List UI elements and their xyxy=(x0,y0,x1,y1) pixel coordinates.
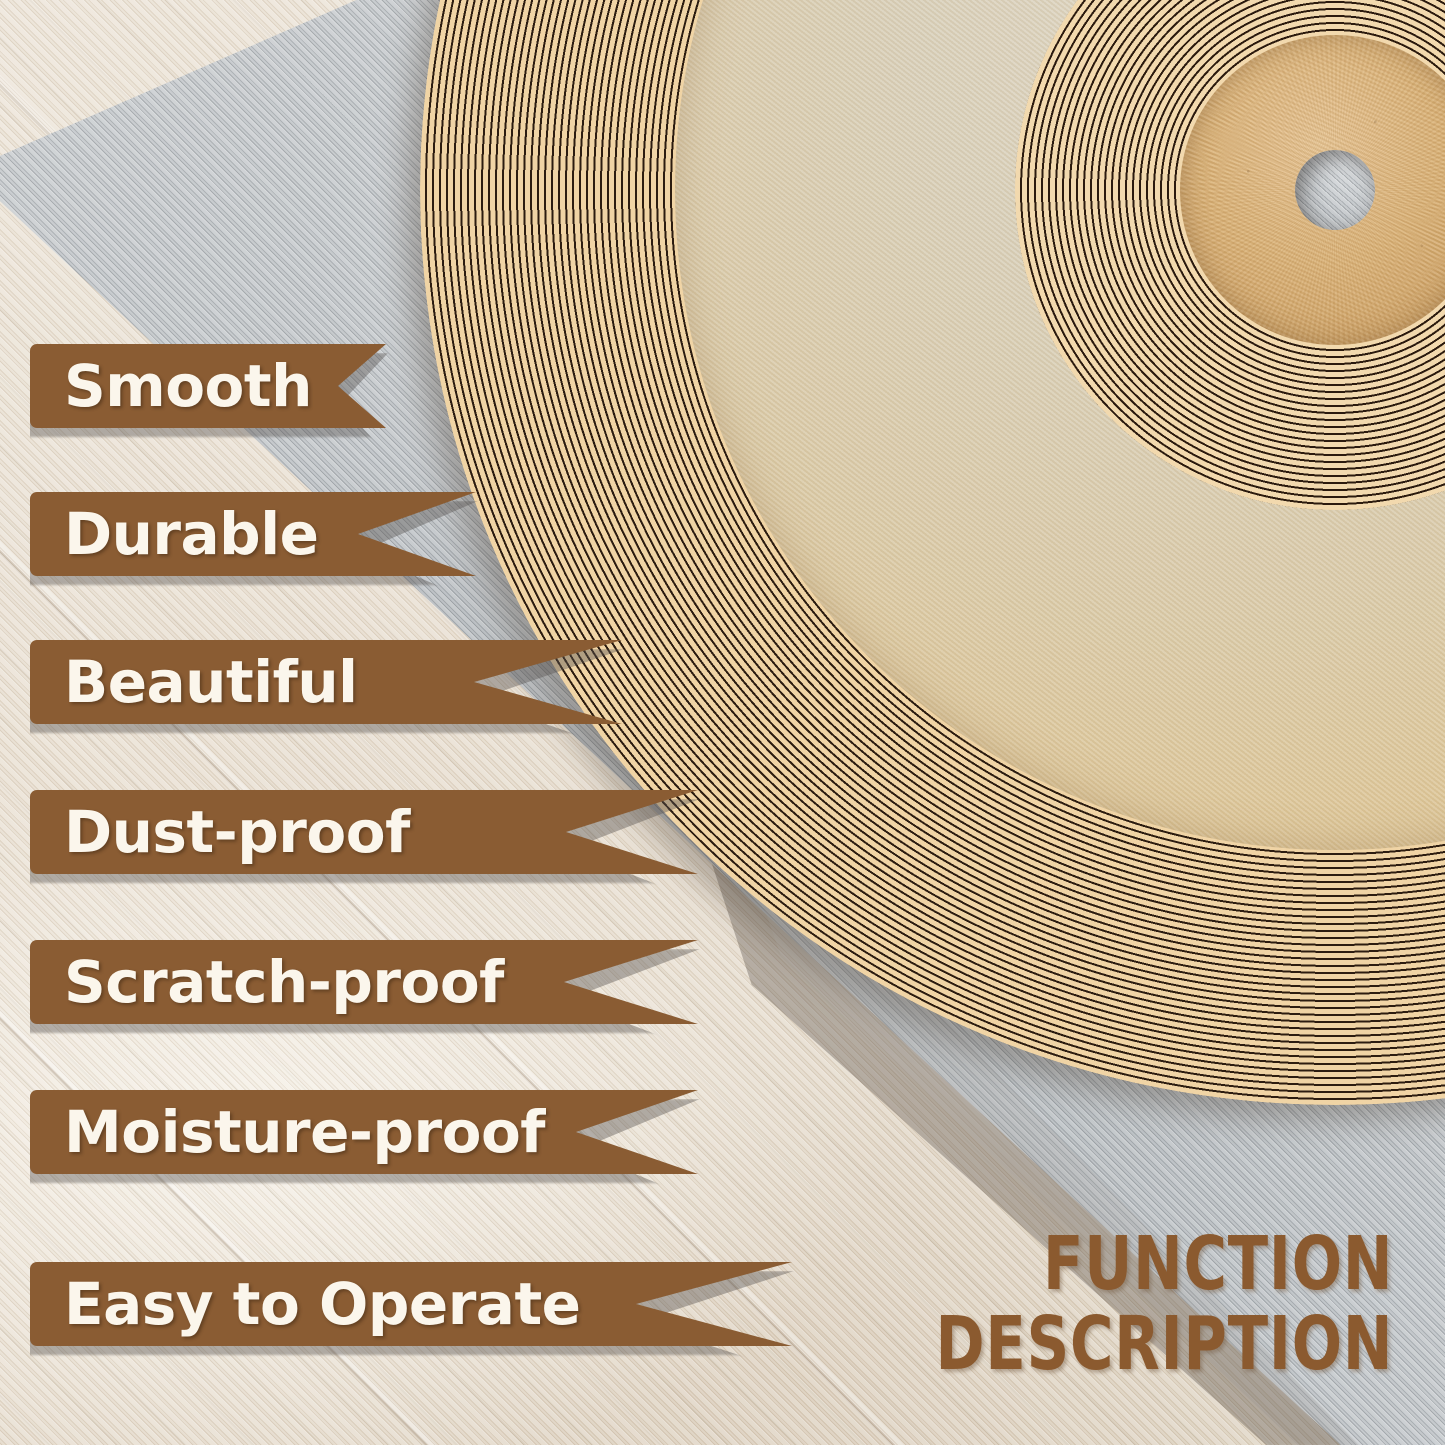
feature-ribbon: Scratch-proof xyxy=(30,940,698,1024)
feature-ribbon-label: Smooth xyxy=(30,357,312,415)
feature-ribbon: Dust-proof xyxy=(30,790,698,874)
feature-ribbon: Durable xyxy=(30,492,476,576)
infographic-canvas: FUNCTION DESCRIPTION SmoothDurableBeauti… xyxy=(0,0,1445,1445)
feature-ribbon: Beautiful xyxy=(30,640,622,724)
feature-ribbon: Moisture-proof xyxy=(30,1090,698,1174)
heading-line-1: FUNCTION xyxy=(935,1225,1393,1305)
tape-center-hole xyxy=(1295,150,1375,230)
feature-ribbon-label: Moisture-proof xyxy=(30,1103,545,1161)
feature-ribbon-label: Easy to Operate xyxy=(30,1275,581,1333)
feature-ribbon-label: Dust-proof xyxy=(30,803,410,861)
feature-ribbon: Smooth xyxy=(30,344,386,428)
heading-block: FUNCTION DESCRIPTION xyxy=(935,1225,1393,1385)
heading-line-2: DESCRIPTION xyxy=(935,1305,1393,1385)
feature-ribbon: Easy to Operate xyxy=(30,1262,792,1346)
feature-ribbon-label: Beautiful xyxy=(30,653,358,711)
feature-ribbon-label: Scratch-proof xyxy=(30,953,504,1011)
feature-ribbon-label: Durable xyxy=(30,505,318,563)
